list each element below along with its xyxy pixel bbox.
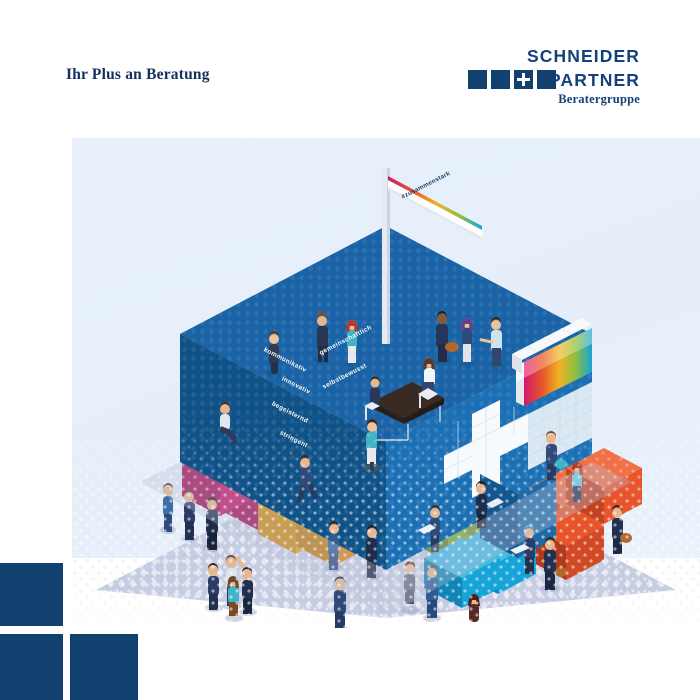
corner-square-bottom-left — [0, 634, 63, 700]
page-title: Ihr Plus an Beratung — [66, 66, 210, 84]
logo-square-plus-icon — [514, 70, 533, 89]
logo-square-2 — [491, 70, 510, 89]
sky-dot-overlay — [72, 138, 700, 628]
logo-line-schneider: SCHNEIDER — [527, 46, 640, 67]
logo-square-4 — [537, 70, 556, 89]
page-root: Ihr Plus an Beratung SCHNEIDER PARTNER B… — [0, 0, 700, 700]
corner-square-bottom-right — [70, 634, 138, 700]
plus-vertical-bar — [522, 73, 525, 86]
hero-illustration: #zusammenstark kommunikativ innovativ be… — [72, 138, 700, 628]
logo-square-1 — [468, 70, 487, 89]
corner-square-top — [0, 563, 63, 626]
logo-line-partner: PARTNER — [549, 70, 640, 91]
brand-logo: SCHNEIDER PARTNER Beratergruppe — [468, 46, 640, 108]
logo-square-group — [468, 70, 556, 89]
logo-subtitle: Beratergruppe — [558, 92, 640, 107]
